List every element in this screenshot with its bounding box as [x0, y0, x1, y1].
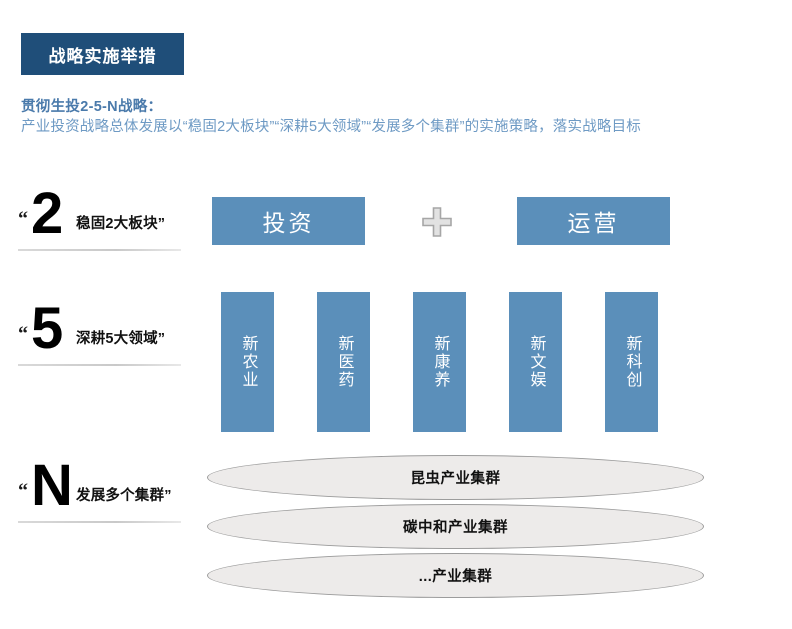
cluster-ellipse-label: 碳中和产业集群 [403, 516, 508, 537]
intro-body: 产业投资战略总体发展以“稳固2大板块”“深耕5大领域”“发展多个集群”的实施策略… [21, 117, 776, 138]
pillar-block-operate[interactable]: 运营 [517, 197, 670, 245]
intro-heading: 贯彻生投2-5-N战略： [21, 97, 776, 117]
section-label-n: “ N 发展多个集群” [14, 459, 199, 523]
section-divider-n [18, 521, 181, 523]
cluster-ellipse-carbon-neutral[interactable]: 碳中和产业集群 [207, 504, 704, 549]
domain-bar-label: 新农业 [237, 335, 259, 389]
section-sublabel-two: 稳固2大板块” [76, 212, 165, 233]
quote-open-mark: “ [18, 480, 28, 503]
header-badge-label: 战略实施举措 [49, 42, 157, 67]
domain-bar-new-tech[interactable]: 新科创 [605, 292, 658, 432]
domain-bar-label: 新文娱 [525, 335, 547, 389]
pillar-block-invest[interactable]: 投资 [212, 197, 365, 245]
section-divider-two [18, 249, 181, 251]
domain-bar-new-agriculture[interactable]: 新农业 [221, 292, 274, 432]
header-badge: 战略实施举措 [21, 33, 184, 75]
domain-bar-new-medicine[interactable]: 新医药 [317, 292, 370, 432]
domain-bar-new-health[interactable]: 新康养 [413, 292, 466, 432]
domain-bar-label: 新康养 [429, 335, 451, 389]
cluster-ellipse-more[interactable]: ...产业集群 [207, 553, 704, 598]
cluster-ellipse-insect[interactable]: 昆虫产业集群 [207, 455, 704, 500]
plus-icon [421, 206, 453, 238]
section-divider-five [18, 364, 181, 366]
cluster-ellipse-label: ...产业集群 [419, 565, 493, 586]
section-label-two: “ 2 稳固2大板块” [14, 187, 199, 251]
intro-block: 贯彻生投2-5-N战略： 产业投资战略总体发展以“稳固2大板块”“深耕5大领域”… [21, 97, 776, 138]
pillar-block-operate-label: 运营 [568, 204, 620, 238]
domain-bar-label: 新医药 [333, 335, 355, 389]
section-sublabel-n: 发展多个集群” [76, 484, 172, 505]
domain-bar-new-culture[interactable]: 新文娱 [509, 292, 562, 432]
section-number-n: N [31, 457, 73, 515]
domain-bar-label: 新科创 [621, 335, 643, 389]
quote-open-mark: “ [18, 323, 28, 346]
cluster-ellipse-label: 昆虫产业集群 [411, 467, 501, 488]
section-label-five: “ 5 深耕5大领域” [14, 302, 199, 366]
quote-open-mark: “ [18, 208, 28, 231]
pillar-block-invest-label: 投资 [263, 204, 315, 238]
section-sublabel-five: 深耕5大领域” [76, 327, 165, 348]
section-number-five: 5 [31, 300, 63, 358]
section-number-two: 2 [31, 185, 63, 243]
